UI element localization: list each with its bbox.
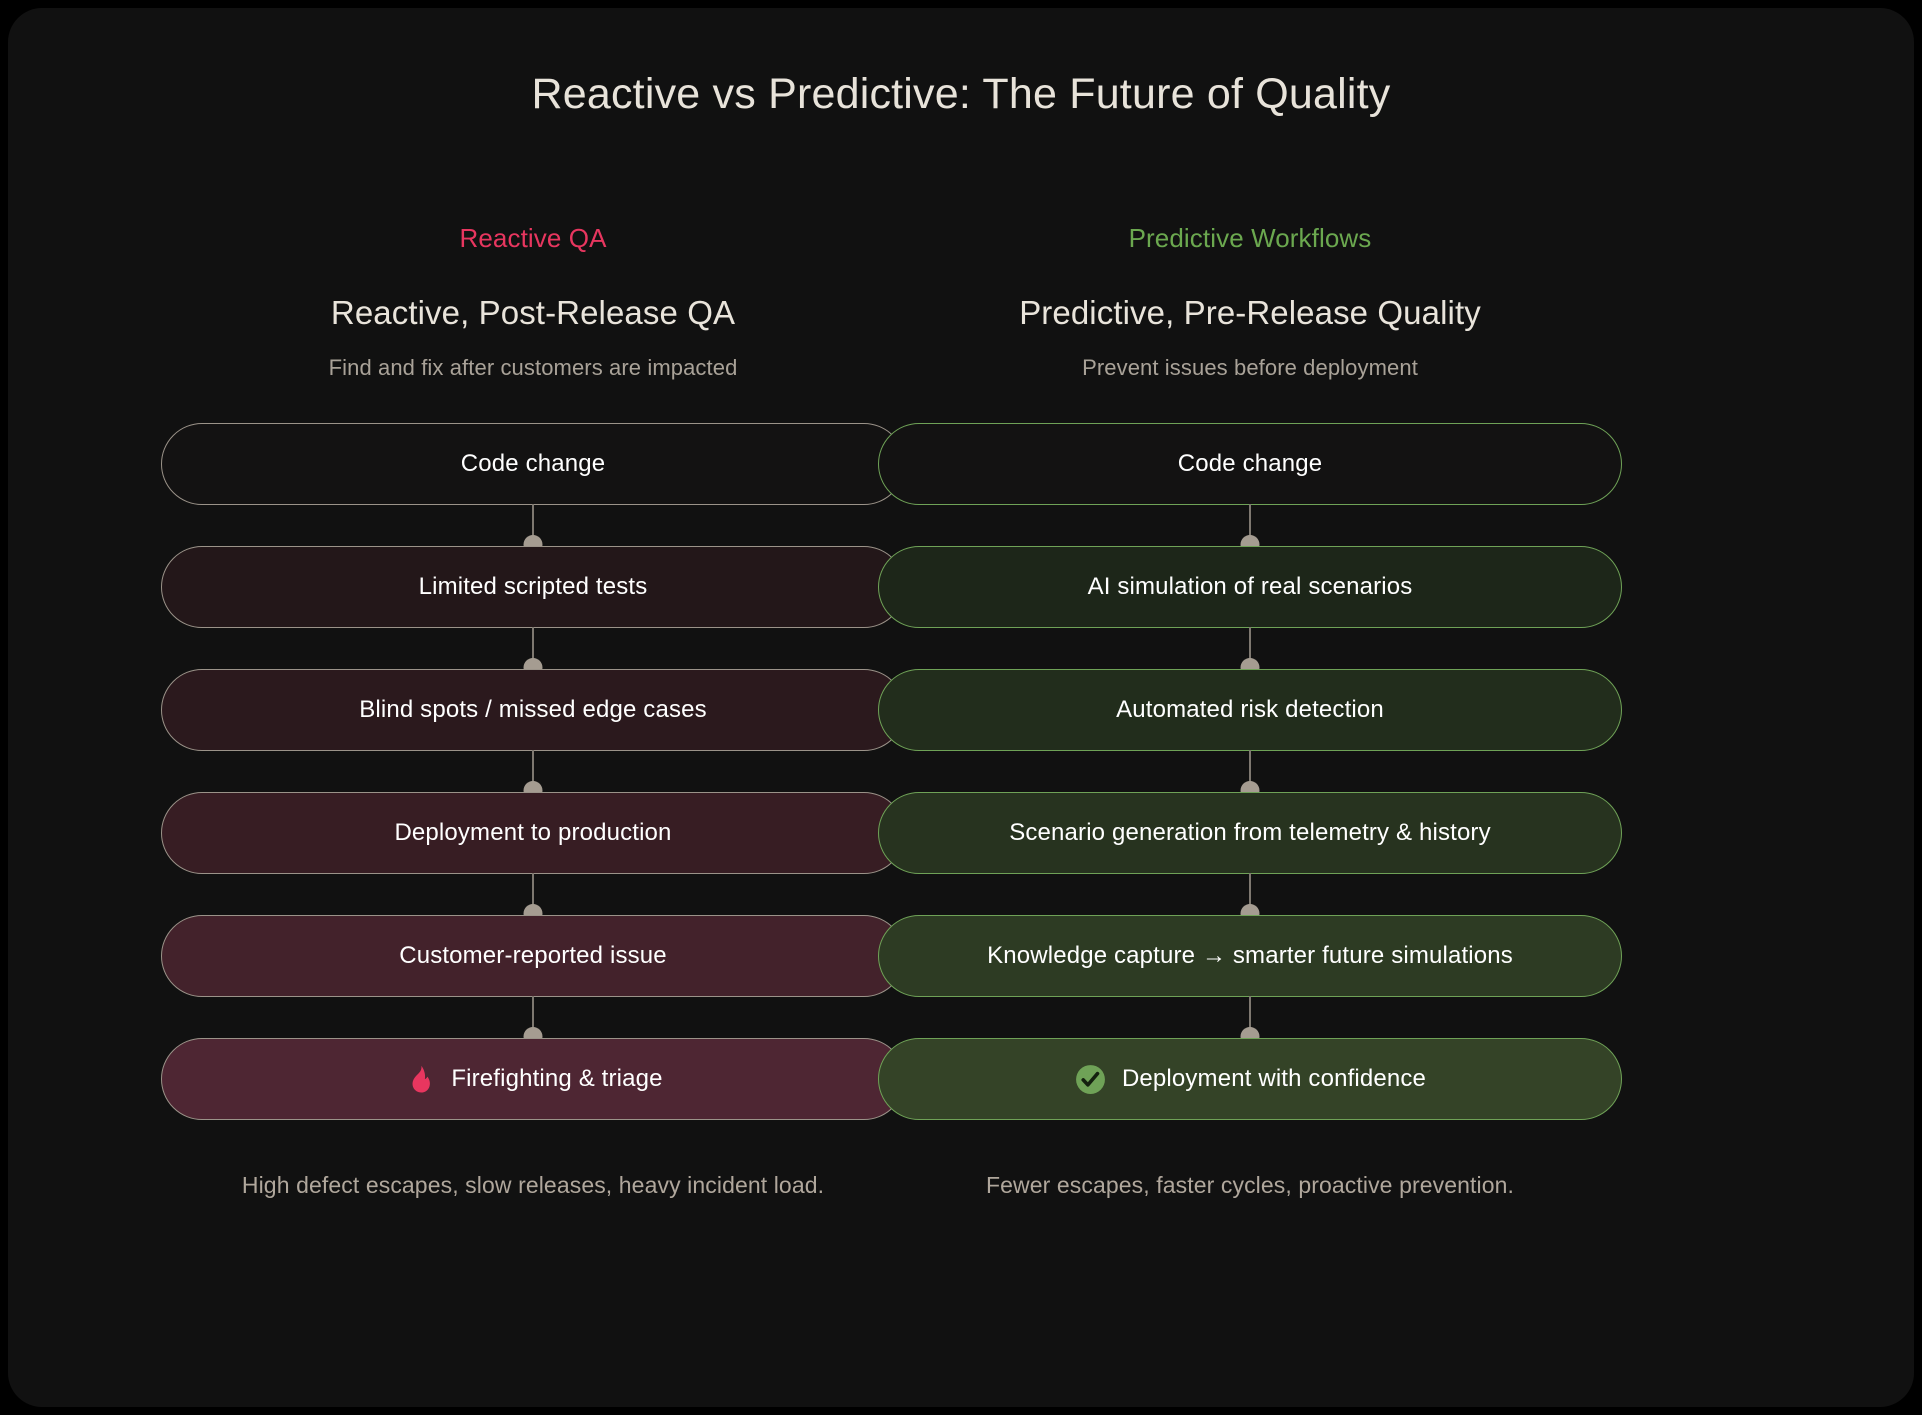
pill-step-6[interactable]: Deployment with confidence — [878, 1038, 1622, 1120]
pill-label: Scenario generation from telemetry & his… — [1009, 819, 1490, 847]
column-reactive: Reactive QA Reactive, Post-Release QA Fi… — [153, 223, 913, 1199]
pill-label: Automated risk detection — [1116, 696, 1384, 724]
flow-connector — [1249, 627, 1251, 669]
slide-card: Reactive vs Predictive: The Future of Qu… — [8, 8, 1914, 1407]
pill-step-3[interactable]: Automated risk detection — [878, 669, 1622, 751]
pill-label: AI simulation of real scenarios — [1088, 573, 1413, 601]
pill-step-4[interactable]: Scenario generation from telemetry & his… — [878, 792, 1622, 874]
flow-step[interactable]: Code change — [153, 423, 913, 505]
pill-label: Blind spots / missed edge cases — [359, 696, 707, 724]
flow-step[interactable]: Deployment to production — [153, 792, 913, 874]
pill-label: Knowledge capture → smarter future simul… — [987, 942, 1513, 970]
flow-step[interactable]: Customer-reported issue — [153, 915, 913, 997]
flow-connector — [532, 627, 534, 669]
column-subtitle-predictive: Prevent issues before deployment — [870, 355, 1630, 381]
flow-step[interactable]: Scenario generation from telemetry & his… — [870, 792, 1630, 874]
flow-predictive: Code change AI simulation of real scenar… — [870, 423, 1630, 1120]
pill-step-5[interactable]: Customer-reported issue — [161, 915, 905, 997]
flow-connector — [1249, 750, 1251, 792]
flow-connector — [1249, 996, 1251, 1038]
column-note-reactive: High defect escapes, slow releases, heav… — [153, 1172, 913, 1199]
column-subtitle-reactive: Find and fix after customers are impacte… — [153, 355, 913, 381]
column-heading-predictive: Predictive, Pre-Release Quality — [870, 294, 1630, 332]
flow-connector — [532, 750, 534, 792]
check-circle-icon — [1074, 1062, 1108, 1096]
pill-step-1[interactable]: Code change — [878, 423, 1622, 505]
flame-icon — [403, 1062, 437, 1096]
flow-connector — [532, 504, 534, 546]
pill-label: Code change — [461, 450, 605, 478]
column-kicker-predictive: Predictive Workflows — [870, 223, 1630, 254]
pill-step-6[interactable]: Firefighting & triage — [161, 1038, 905, 1120]
pill-label: Code change — [1178, 450, 1322, 478]
pill-step-2[interactable]: AI simulation of real scenarios — [878, 546, 1622, 628]
pill-step-2[interactable]: Limited scripted tests — [161, 546, 905, 628]
flow-step[interactable]: Limited scripted tests — [153, 546, 913, 628]
pill-step-3[interactable]: Blind spots / missed edge cases — [161, 669, 905, 751]
flow-reactive: Code change Limited scripted tests Blind… — [153, 423, 913, 1120]
flow-step[interactable]: Knowledge capture → smarter future simul… — [870, 915, 1630, 997]
column-kicker-reactive: Reactive QA — [153, 223, 913, 254]
pill-label: Limited scripted tests — [419, 573, 648, 601]
flow-step[interactable]: Blind spots / missed edge cases — [153, 669, 913, 751]
flow-step[interactable]: Automated risk detection — [870, 669, 1630, 751]
pill-step-5[interactable]: Knowledge capture → smarter future simul… — [878, 915, 1622, 997]
column-predictive: Predictive Workflows Predictive, Pre-Rel… — [870, 223, 1630, 1199]
column-heading-reactive: Reactive, Post-Release QA — [153, 294, 913, 332]
flow-step[interactable]: Deployment with confidence — [870, 1038, 1630, 1120]
flow-step[interactable]: AI simulation of real scenarios — [870, 546, 1630, 628]
flow-connector — [1249, 504, 1251, 546]
flow-step[interactable]: Code change — [870, 423, 1630, 505]
flow-step[interactable]: Firefighting & triage — [153, 1038, 913, 1120]
pill-label: Customer-reported issue — [399, 942, 667, 970]
pill-step-4[interactable]: Deployment to production — [161, 792, 905, 874]
pill-label: Deployment with confidence — [1122, 1065, 1426, 1093]
flow-connector — [532, 996, 534, 1038]
page-title: Reactive vs Predictive: The Future of Qu… — [8, 70, 1914, 119]
flow-connector — [532, 873, 534, 915]
pill-label: Deployment to production — [394, 819, 671, 847]
pill-step-1[interactable]: Code change — [161, 423, 905, 505]
flow-connector — [1249, 873, 1251, 915]
pill-label: Firefighting & triage — [451, 1065, 662, 1093]
column-note-predictive: Fewer escapes, faster cycles, proactive … — [870, 1172, 1630, 1199]
